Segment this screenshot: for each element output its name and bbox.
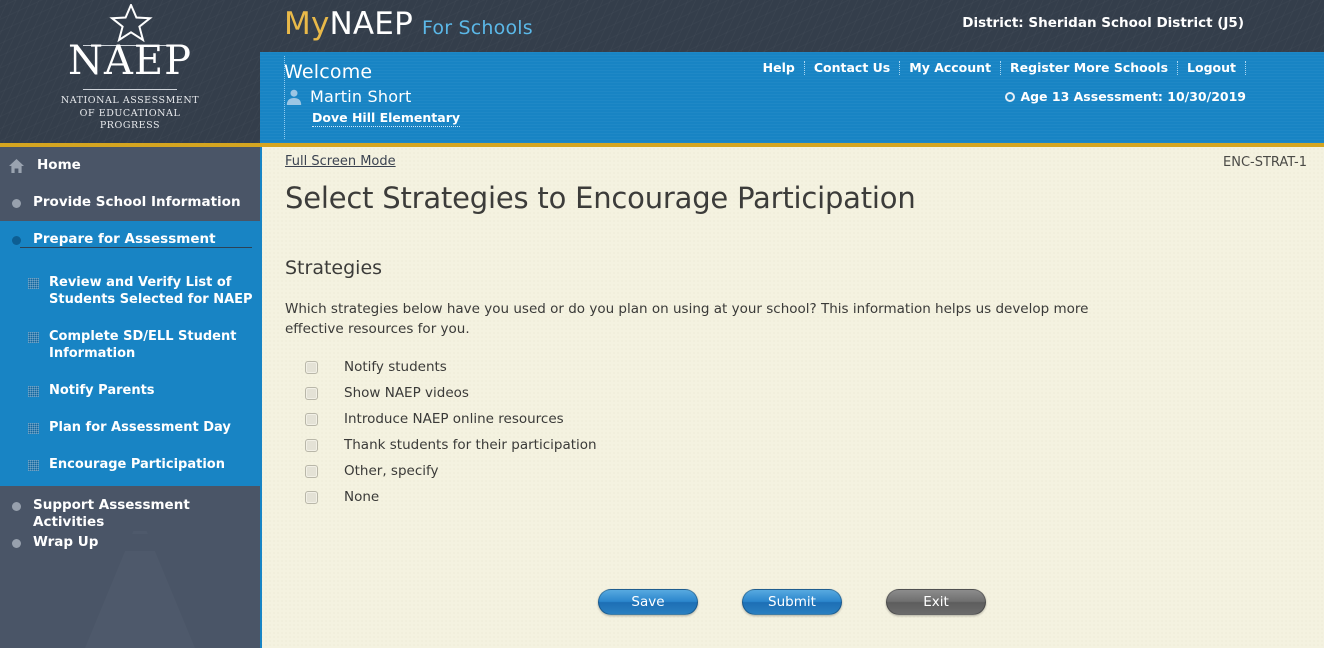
sidebar-subitem-complete-sd-ell[interactable]: Complete SD/ELL Student Information [0, 328, 260, 362]
logo-wordmark: NAEP [0, 40, 260, 82]
sidebar-subitem-notify-parents[interactable]: Notify Parents [0, 382, 260, 399]
assessment-info: Age 13 Assessment: 10/30/2019 [1005, 89, 1246, 104]
app-title-my: My [284, 6, 330, 42]
main-left-edge [260, 147, 262, 648]
welcome-label: Welcome [284, 61, 372, 83]
checkbox-row-thank-students[interactable]: Thank students for their participation [305, 432, 597, 458]
checkbox-icon[interactable] [305, 439, 318, 452]
sidebar-nav: Home Provide School Information Prepare … [0, 147, 260, 648]
checkbox-label-other-specify: Other, specify [344, 463, 439, 479]
sidebar-item-prepare-for-assessment-label: Prepare for Assessment [33, 231, 216, 248]
sidebar-item-wrap-up[interactable]: Wrap Up [0, 534, 260, 551]
sidebar-item-wrap-up-label: Wrap Up [33, 534, 98, 551]
header-nav-links: Help Contact Us My Account Register More… [754, 61, 1246, 75]
checkbox-label-none: None [344, 489, 379, 505]
nav-link-my-account[interactable]: My Account [900, 61, 1001, 75]
intro-text: Which strategies below have you used or … [285, 299, 1133, 339]
logo-subtitle-line1: NATIONAL ASSESSMENT [0, 95, 260, 108]
sidebar-item-provide-school-information-label: Provide School Information [33, 194, 241, 211]
checkbox-label-notify-students: Notify students [344, 359, 447, 375]
checkbox-label-introduce-naep-online-resources: Introduce NAEP online resources [344, 411, 564, 427]
checkbox-icon[interactable] [305, 361, 318, 374]
assessment-label: Age 13 Assessment: 10/30/2019 [1020, 89, 1246, 104]
sidebar-subitem-complete-sd-ell-label: Complete SD/ELL Student Information [49, 328, 254, 362]
logo-subtitle: NATIONAL ASSESSMENT OF EDUCATIONAL PROGR… [0, 95, 260, 133]
square-marker-icon [28, 386, 39, 397]
house-icon [8, 158, 25, 174]
full-screen-mode-link[interactable]: Full Screen Mode [285, 154, 396, 169]
bullet-icon [12, 539, 21, 548]
nav-link-register-more-schools[interactable]: Register More Schools [1001, 61, 1178, 75]
user-avatar-icon [285, 88, 303, 106]
logo-subtitle-line2: OF EDUCATIONAL [0, 108, 260, 121]
sidebar-item-home-label: Home [37, 157, 81, 174]
checkbox-icon[interactable] [305, 387, 318, 400]
user-name: Martin Short [310, 87, 411, 106]
logo-rule-bottom [83, 89, 177, 90]
sidebar-subitem-plan-for-assessment-day[interactable]: Plan for Assessment Day [0, 419, 260, 436]
checkbox-row-none[interactable]: None [305, 484, 597, 510]
sidebar-subitem-encourage-participation[interactable]: Encourage Participation [0, 456, 260, 473]
checkbox-label-thank-students: Thank students for their participation [344, 437, 597, 453]
sidebar-subitem-review-and-verify-label: Review and Verify List of Students Selec… [49, 274, 254, 308]
bullet-icon [12, 502, 21, 511]
sidebar-subitem-plan-for-assessment-day-label: Plan for Assessment Day [49, 419, 254, 436]
sidebar-subitem-encourage-participation-label: Encourage Participation [49, 456, 254, 473]
strategies-checkbox-list: Notify students Show NAEP videos Introdu… [305, 354, 597, 510]
square-marker-icon [28, 278, 39, 289]
checkbox-row-notify-students[interactable]: Notify students [305, 354, 597, 380]
app-title-for-schools: For Schools [422, 17, 533, 39]
sidebar-item-home[interactable]: Home [0, 157, 260, 174]
app-title: MyNAEPFor Schools [284, 6, 533, 42]
nav-link-help[interactable]: Help [754, 61, 805, 75]
nav-link-logout[interactable]: Logout [1178, 61, 1246, 75]
radio-target-icon [1005, 92, 1015, 102]
sidebar-subitem-review-and-verify[interactable]: Review and Verify List of Students Selec… [0, 274, 260, 308]
action-buttons: Save Submit Exit [260, 589, 1324, 615]
bullet-active-icon [12, 236, 21, 245]
main-content: Full Screen Mode ENC-STRAT-1 Select Stra… [260, 147, 1324, 648]
checkbox-row-introduce-naep-online-resources[interactable]: Introduce NAEP online resources [305, 406, 597, 432]
logo-subtitle-line3: PROGRESS [0, 120, 260, 133]
save-button[interactable]: Save [598, 589, 698, 615]
sidebar-subitem-notify-parents-label: Notify Parents [49, 382, 254, 399]
checkbox-icon[interactable] [305, 413, 318, 426]
bullet-icon [12, 199, 21, 208]
district-label: District: Sheridan School District (J5) [962, 15, 1244, 31]
sidebar-item-support-assessment-activities-label: Support Assessment Activities [33, 497, 260, 531]
school-name-link[interactable]: Dove Hill Elementary [312, 110, 460, 127]
square-marker-icon [28, 460, 39, 471]
checkbox-icon[interactable] [305, 491, 318, 504]
app-title-naep: NAEP [330, 6, 413, 42]
square-marker-icon [28, 423, 39, 434]
section-title: Strategies [285, 257, 382, 279]
naep-logo: NAEP NATIONAL ASSESSMENT OF EDUCATIONAL … [0, 0, 260, 143]
checkbox-row-other-specify[interactable]: Other, specify [305, 458, 597, 484]
square-marker-icon [28, 332, 39, 343]
sidebar-item-provide-school-information[interactable]: Provide School Information [0, 194, 260, 211]
nav-link-contact-us[interactable]: Contact Us [805, 61, 900, 75]
checkbox-row-show-naep-videos[interactable]: Show NAEP videos [305, 380, 597, 406]
document-code: ENC-STRAT-1 [1223, 155, 1307, 170]
sidebar-item-support-assessment-activities[interactable]: Support Assessment Activities [0, 497, 260, 531]
submit-button[interactable]: Submit [742, 589, 842, 615]
sidebar-item-prepare-for-assessment[interactable]: Prepare for Assessment [0, 231, 260, 248]
checkbox-label-show-naep-videos: Show NAEP videos [344, 385, 469, 401]
checkbox-icon[interactable] [305, 465, 318, 478]
app-window: NAEP NATIONAL ASSESSMENT OF EDUCATIONAL … [0, 0, 1324, 648]
exit-button[interactable]: Exit [886, 589, 986, 615]
page-title: Select Strategies to Encourage Participa… [285, 181, 916, 215]
